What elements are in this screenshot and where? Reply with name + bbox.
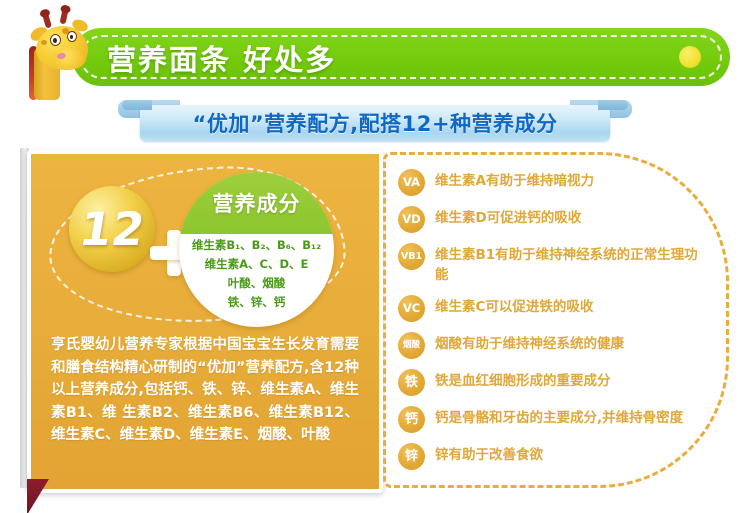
page-header: 营养面条 好处多 <box>0 0 750 98</box>
nutrient-benefit-text: 维生素A有助于维持暗视力 <box>435 168 594 191</box>
nutrition-circle-header: 营养成分 <box>179 172 334 234</box>
nutrient-row: 烟酸烟酸有助于维持神经系统的健康 <box>398 331 723 359</box>
nutrient-badge: VC <box>398 295 425 322</box>
nutrient-badge: 烟酸 <box>398 332 425 359</box>
subtitle-ribbon: “优加”营养配方,配搭12+种营养成分 <box>0 97 750 143</box>
nutrient-benefit-text: 维生素D可促进钙的吸收 <box>435 205 581 228</box>
giraffe-eye-left <box>50 34 61 46</box>
nutrient-badge: 锌 <box>398 443 425 470</box>
nutrition-line: 维生素A、C、D、E <box>179 255 334 274</box>
card-fold-corner <box>27 479 49 513</box>
nutrient-badge: 铁 <box>398 369 425 396</box>
formula-card: 12 营养成分 维生素B₁、B₂、B₆、B₁₂ 维生素A、C、D、E 叶酸、烟酸… <box>27 150 383 493</box>
nutrition-circle-title: 营养成分 <box>213 188 301 218</box>
number-12-text: 12 <box>65 202 160 256</box>
giraffe-spot <box>41 40 47 45</box>
giraffe-horn-right <box>60 9 69 25</box>
nutrient-row: 钙钙是骨骼和牙齿的主要成分,并维持骨密度 <box>398 405 723 433</box>
nutrient-badge: 钙 <box>398 406 425 433</box>
nutrition-circle: 营养成分 维生素B₁、B₂、B₆、B₁₂ 维生素A、C、D、E 叶酸、烟酸 铁、… <box>179 172 334 327</box>
nutrient-row: 铁铁是血红细胞形成的重要成分 <box>398 368 723 396</box>
nutrient-row: 锌锌有助于改善食欲 <box>398 442 723 470</box>
nutrient-row: VB1维生素B1有助于维持神经系统的正常生理功能 <box>398 242 723 285</box>
nutrient-row: VD维生素D可促进钙的吸收 <box>398 205 723 233</box>
nutrient-benefit-text: 维生素C可以促进铁的吸收 <box>435 294 593 317</box>
nutrient-badge: VD <box>398 206 425 233</box>
number-12-badge: 12 <box>69 186 155 272</box>
nutrient-benefit-text: 铁是血红细胞形成的重要成分 <box>435 368 611 391</box>
nutrient-benefit-text: 锌有助于改善食欲 <box>435 442 543 465</box>
nutrient-row: VC维生素C可以促进铁的吸收 <box>398 294 723 322</box>
nutrient-badge: VA <box>398 169 425 196</box>
giraffe-mascot-icon <box>14 6 92 98</box>
nutrition-line: 叶酸、烟酸 <box>179 274 334 293</box>
formula-description: 亨氏婴幼儿营养专家根据中国宝宝生长发育需要和膳食结构精心研制的“优加”营养配方,… <box>51 334 359 447</box>
nutrient-row: VA维生素A有助于维持暗视力 <box>398 168 723 196</box>
nutrient-benefit-text: 烟酸有助于维持神经系统的健康 <box>435 331 624 354</box>
nutrition-line: 维生素B₁、B₂、B₆、B₁₂ <box>179 236 334 255</box>
nutrition-line: 铁、锌、钙 <box>179 293 334 312</box>
giraffe-eye-right <box>67 31 77 42</box>
nutrient-benefits-list: VA维生素A有助于维持暗视力VD维生素D可促进钙的吸收VB1维生素B1有助于维持… <box>398 168 723 479</box>
promo-page: 营养面条 好处多 “优加”营养配方,配搭12+种营养成分 12 <box>0 0 750 513</box>
nutrient-badge: VB1 <box>398 243 425 270</box>
nutrient-benefit-text: 钙是骨骼和牙齿的主要成分,并维持骨密度 <box>435 405 683 428</box>
banner-dot-icon <box>679 46 701 68</box>
giraffe-snout <box>53 48 86 70</box>
nutrient-benefit-text: 维生素B1有助于维持神经系统的正常生理功能 <box>435 242 711 285</box>
subtitle-text: “优加”营养配方,配搭12+种营养成分 <box>140 105 610 141</box>
page-title: 营养面条 好处多 <box>107 37 336 79</box>
nutrition-circle-list: 维生素B₁、B₂、B₆、B₁₂ 维生素A、C、D、E 叶酸、烟酸 铁、锌、钙 <box>179 236 334 312</box>
